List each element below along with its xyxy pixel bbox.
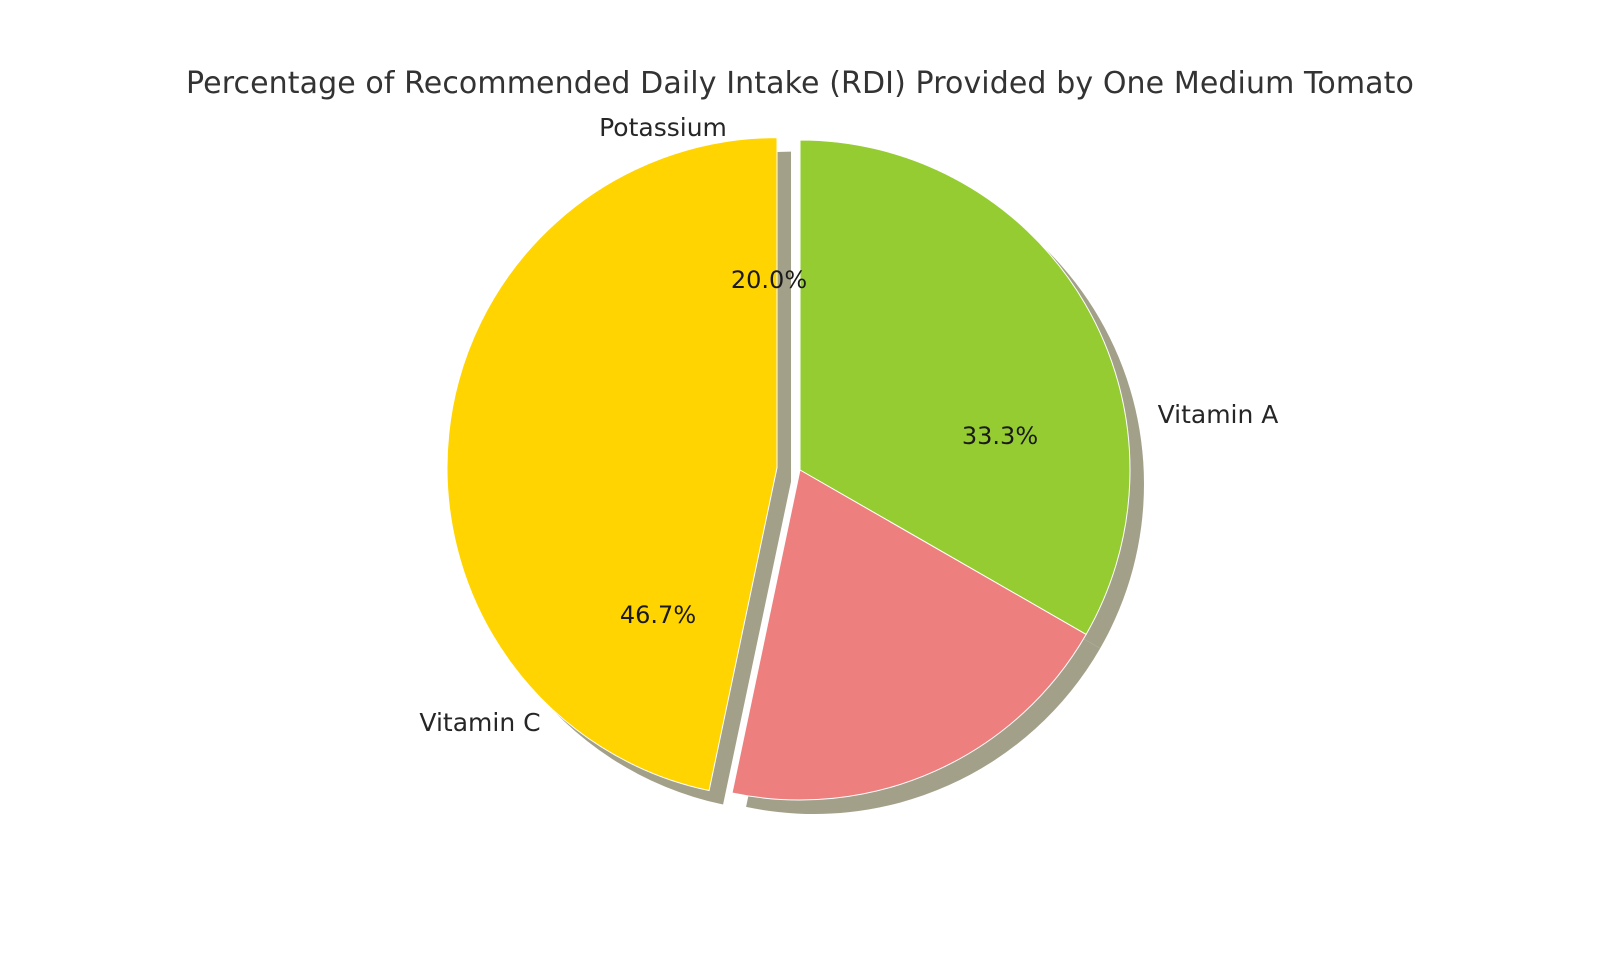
slice-label-vitamin-c: Vitamin C [419,708,540,737]
slice-percent-potassium: 20.0% [731,266,807,294]
slice-percent-vitamin-c: 46.7% [620,601,696,629]
pie-chart-figure: Percentage of Recommended Daily Intake (… [0,0,1600,960]
slice-label-vitamin-a: Vitamin A [1158,400,1279,429]
pie-slice-vitamin-c[interactable] [447,138,777,791]
pie-chart-canvas: Vitamin A33.3%Potassium20.0%Vitamin C46.… [0,0,1600,960]
slice-label-potassium: Potassium [599,113,727,142]
slice-percent-vitamin-a: 33.3% [962,422,1038,450]
